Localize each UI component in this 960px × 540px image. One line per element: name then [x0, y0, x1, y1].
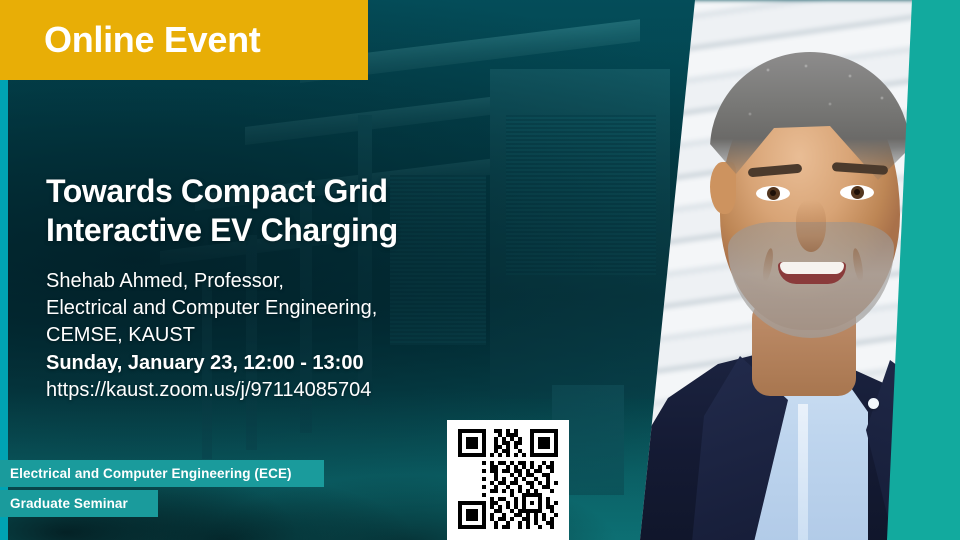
event-poster: Online Event Towards Compact Grid Intera… — [0, 0, 960, 540]
content-block: Towards Compact Grid Interactive EV Char… — [46, 172, 476, 404]
title-line-1: Towards Compact Grid — [46, 172, 476, 211]
title-line-2: Interactive EV Charging — [46, 211, 476, 250]
mouth — [778, 262, 846, 284]
qr-code-icon[interactable] — [458, 429, 558, 529]
eye-right — [840, 185, 874, 200]
event-datetime: Sunday, January 23, 12:00 - 13:00 — [46, 350, 476, 377]
seminar-series-label: Graduate Seminar — [10, 496, 128, 511]
speaker-institution: CEMSE, KAUST — [46, 322, 476, 349]
department-badge: Electrical and Computer Engineering (ECE… — [0, 460, 324, 487]
online-event-label: Online Event — [0, 19, 260, 61]
event-details: Shehab Ahmed, Professor, Electrical and … — [46, 268, 476, 404]
online-event-banner: Online Event — [0, 0, 368, 80]
qr-code-card[interactable] — [447, 420, 569, 540]
speaker-name: Shehab Ahmed, Professor, — [46, 268, 476, 295]
seminar-series-badge: Graduate Seminar — [0, 490, 158, 517]
nose — [796, 200, 826, 252]
page-title: Towards Compact Grid Interactive EV Char… — [46, 172, 476, 250]
hair-highlights — [710, 52, 910, 172]
speaker-affiliation: Electrical and Computer Engineering, — [46, 295, 476, 322]
ear — [710, 162, 736, 214]
shirt-placket — [798, 404, 808, 540]
collar-button — [868, 398, 879, 409]
eye-left — [756, 186, 790, 201]
department-badge-label: Electrical and Computer Engineering (ECE… — [10, 466, 292, 481]
zoom-link[interactable]: https://kaust.zoom.us/j/97114085704 — [46, 377, 476, 404]
